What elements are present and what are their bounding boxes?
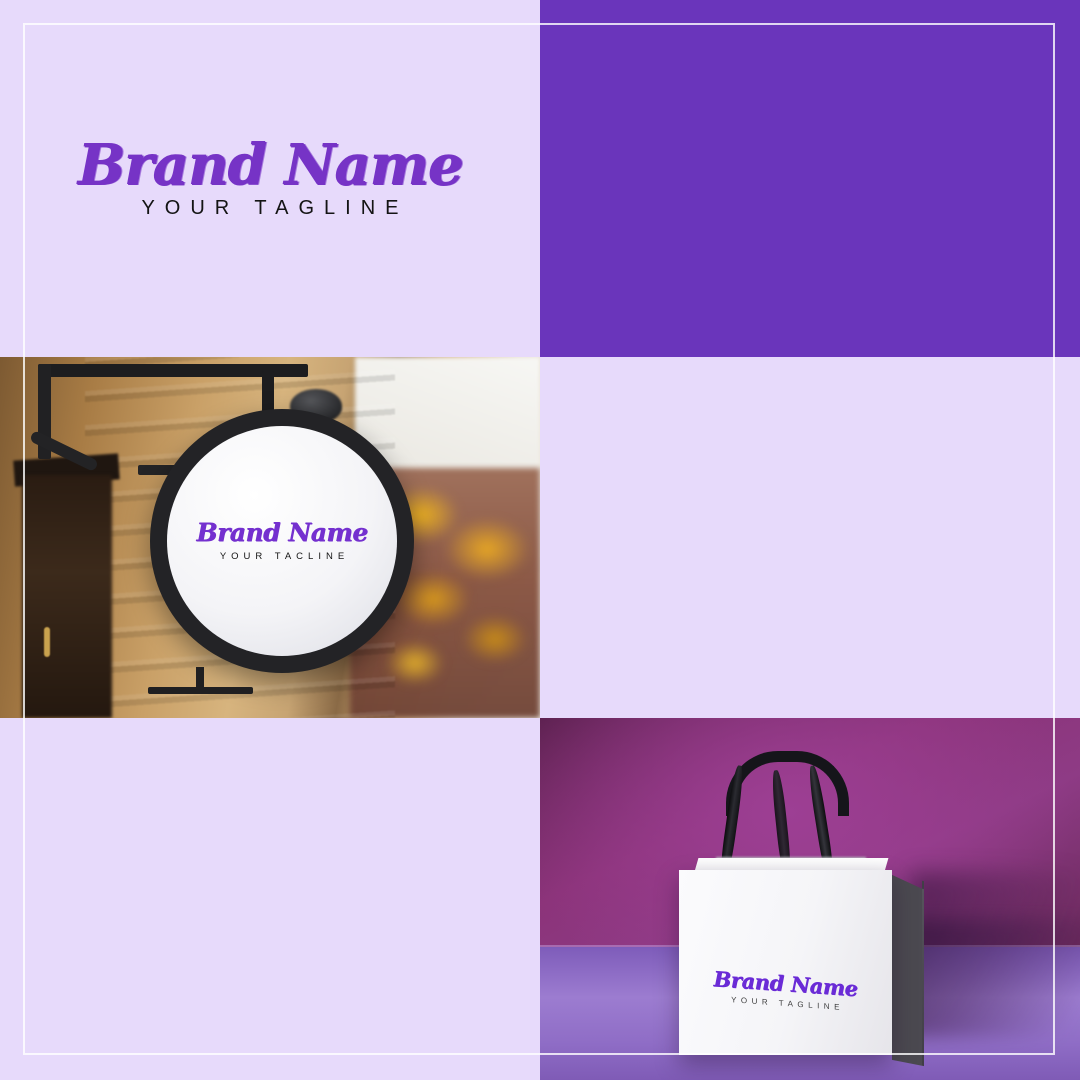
bag-handle-arc (726, 751, 849, 816)
circular-sign: Brand Name YOUR TACLINE (150, 409, 414, 673)
brand-lockup: Brand Name YOUR TAGLINE (0, 0, 540, 357)
headline-panel: OUR COMPANY LOGO REPRESENTS OUR DEDICATI… (540, 0, 1080, 357)
about-panel: Symbol of Success and Trusted Quality Ou… (540, 357, 1080, 718)
sign-photo-scene: Brand Name YOUR TACLINE (0, 357, 540, 718)
brand-lockup-panel: Brand Name YOUR TAGLINE (0, 0, 540, 357)
storefront-sign-photo: Brand Name YOUR TACLINE (0, 357, 540, 718)
bag-front-panel (679, 870, 892, 1055)
values-panel: Innovative: Our logo reflects a spirit o… (0, 718, 540, 1080)
door-handle (44, 627, 50, 657)
bag-side-panel (892, 875, 924, 1066)
bag-photo-scene: Brand Name YOUR TAGLINE (540, 718, 1080, 1080)
brand-tagline-text: YOUR TAGLINE (131, 197, 408, 220)
doorway (22, 475, 112, 718)
sign-foot (148, 687, 253, 694)
shopping-bag-photo: Brand Name YOUR TAGLINE (540, 718, 1080, 1080)
brand-name-text: Brand Name (78, 137, 463, 193)
sign-tagline-text: YOUR TACLINE (215, 551, 349, 562)
sign-brand-name-text: Brand Name (196, 520, 367, 545)
sign-face: Brand Name YOUR TACLINE (167, 426, 397, 656)
brand-presentation-poster: Brand Name YOUR TAGLINE OUR COMPANY LOGO… (0, 0, 1080, 1080)
